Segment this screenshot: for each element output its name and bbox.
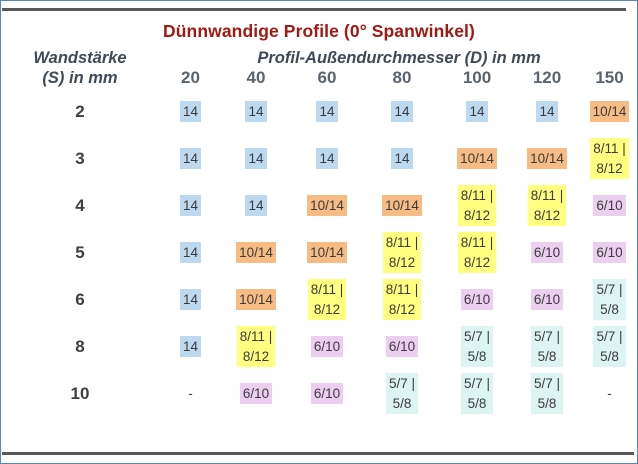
value-chip: 14 (536, 101, 557, 122)
cell-content-wrapper: 14 (222, 135, 290, 182)
value-chip-line2: 8/12 (593, 159, 626, 179)
column-header-40: 40 (222, 68, 290, 88)
cell-content-wrapper: 10/14 (364, 182, 440, 229)
table-cell: 10/14 (222, 276, 290, 323)
cell-content-wrapper: 14 (159, 229, 222, 276)
value-chip: 14 (245, 195, 266, 216)
cell-content-wrapper: 5/7 |5/8 (580, 323, 638, 370)
cell-content-wrapper: 8/11 |8/12 (222, 323, 290, 370)
table-cell: 10/14 (290, 182, 364, 229)
value-chip-line2: 5/8 (389, 394, 415, 414)
table-cell: 6/10 (514, 276, 580, 323)
table-cell: 10/14 (580, 88, 638, 135)
table-row: 61410/148/11 |8/128/11 |8/126/106/105/7 … (1, 276, 638, 323)
table-row: 10-6/106/105/7 |5/85/7 |5/85/7 |5/8- (1, 370, 638, 417)
value-chip-line1: 8/11 | (593, 141, 626, 156)
cell-content-wrapper: 14 (222, 182, 290, 229)
cell-content-wrapper: 5/7 |5/8 (580, 276, 638, 323)
cell-content-wrapper: 6/10 (364, 323, 440, 370)
value-chip: 6/10 (240, 383, 272, 404)
row-header-wall-thickness: 10 (1, 370, 159, 417)
table-cell: 5/7 |5/8 (580, 323, 638, 370)
cell-content-wrapper: 10/14 (290, 229, 364, 276)
value-chip: 6/10 (593, 242, 625, 263)
value-chip-line2: 8/12 (531, 206, 564, 226)
cell-content-wrapper: 6/10 (290, 323, 364, 370)
value-chip-line2: 5/8 (464, 394, 490, 414)
column-header-20: 20 (159, 68, 222, 88)
cell-content-wrapper: 5/7 |5/8 (364, 370, 440, 417)
value-chip-line2: 8/12 (386, 300, 419, 320)
table-header-row-columns: (S) in mm20406080100120150 (1, 68, 638, 88)
value-chip: 14 (180, 336, 201, 357)
cell-content-wrapper: 8/11 |8/12 (364, 276, 440, 323)
column-header-100: 100 (440, 68, 514, 88)
cell-content-wrapper: 14 (290, 135, 364, 182)
value-chip: 5/7 |5/8 (531, 373, 563, 414)
cell-content-wrapper: 14 (222, 88, 290, 135)
cell-content-wrapper: 6/10 (580, 229, 638, 276)
value-chip: 5/7 |5/8 (461, 326, 493, 367)
table-cell: 14 (159, 229, 222, 276)
value-chip: 14 (316, 101, 337, 122)
table-cell: 10/14 (364, 182, 440, 229)
cell-content-wrapper: 14 (364, 88, 440, 135)
value-chip-line1: 8/11 | (240, 329, 273, 344)
value-chip-line2: 5/8 (464, 347, 490, 367)
value-chip: 14 (245, 101, 266, 122)
value-chip: 14 (316, 148, 337, 169)
value-chip-line1: 8/11 | (461, 188, 494, 203)
table-cell: 8/11 |8/12 (440, 229, 514, 276)
value-chip: - (604, 383, 615, 404)
value-chip: 10/14 (236, 289, 276, 310)
row-axis-label-line1: Wandstärke (1, 49, 159, 68)
cell-content-wrapper: 14 (159, 88, 222, 135)
thin-wall-profiles-table-page: Dünnwandige Profile (0° Spanwinkel) Wand… (0, 0, 638, 464)
cell-content-wrapper: 5/7 |5/8 (440, 323, 514, 370)
table-cell: 14 (159, 135, 222, 182)
value-chip: 10/14 (236, 242, 276, 263)
table-cell: 14 (222, 182, 290, 229)
cell-content-wrapper: 10/14 (440, 135, 514, 182)
table-cell: 14 (222, 135, 290, 182)
value-chip-line1: 5/7 | (464, 329, 490, 344)
table-cell: 14 (159, 276, 222, 323)
value-chip: - (185, 383, 196, 404)
table-cell: 6/10 (580, 182, 638, 229)
table-cell: 10/14 (290, 229, 364, 276)
row-header-wall-thickness: 5 (1, 229, 159, 276)
value-chip: 8/11 |8/12 (590, 138, 629, 179)
table-cell: 6/10 (580, 229, 638, 276)
value-chip: 5/7 |5/8 (386, 373, 418, 414)
value-chip: 10/14 (457, 148, 497, 169)
cell-content-wrapper: 14 (514, 88, 580, 135)
profiles-table: WandstärkeProfil-Außendurchmesser (D) in… (1, 49, 638, 417)
table-cell: 8/11 |8/12 (290, 276, 364, 323)
table-cell: 8/11 |8/12 (440, 182, 514, 229)
value-chip: 8/11 |8/12 (528, 185, 567, 226)
column-header-80: 80 (364, 68, 440, 88)
value-chip-line1: 8/11 | (461, 235, 494, 250)
cell-content-wrapper: 14 (159, 276, 222, 323)
value-chip-line1: 5/7 | (534, 376, 560, 391)
value-chip: 5/7 |5/8 (593, 279, 625, 320)
value-chip: 6/10 (311, 383, 343, 404)
cell-content-wrapper: 10/14 (580, 88, 638, 135)
table-cell: 6/10 (364, 323, 440, 370)
cell-content-wrapper: 8/11 |8/12 (440, 229, 514, 276)
value-chip: 6/10 (531, 289, 563, 310)
cell-content-wrapper: 10/14 (222, 276, 290, 323)
value-chip: 8/11 |8/12 (308, 279, 347, 320)
column-header-60: 60 (290, 68, 364, 88)
table-cell: 14 (290, 135, 364, 182)
cell-content-wrapper: - (159, 370, 222, 417)
table-cell: 14 (159, 323, 222, 370)
top-divider-rule (2, 8, 626, 11)
value-chip: 8/11 |8/12 (383, 232, 422, 273)
value-chip: 14 (180, 242, 201, 263)
row-header-wall-thickness: 4 (1, 182, 159, 229)
cell-content-wrapper: 6/10 (580, 182, 638, 229)
cell-content-wrapper: - (580, 370, 638, 417)
cell-content-wrapper: 14 (364, 135, 440, 182)
value-chip-line1: 8/11 | (311, 282, 344, 297)
table-row: 31414141410/1410/148/11 |8/12 (1, 135, 638, 182)
cell-content-wrapper: 14 (290, 88, 364, 135)
table-cell: 8/11 |8/12 (364, 229, 440, 276)
table-cell: 6/10 (290, 370, 364, 417)
value-chip-line2: 8/12 (461, 253, 494, 273)
value-chip-line1: 5/7 | (389, 376, 415, 391)
row-header-wall-thickness: 8 (1, 323, 159, 370)
table-cell: 10/14 (514, 135, 580, 182)
value-chip-line2: 5/8 (596, 347, 622, 367)
bottom-divider-rule (2, 452, 634, 455)
value-chip: 10/14 (590, 101, 630, 122)
table-cell: 5/7 |5/8 (580, 276, 638, 323)
value-chip: 8/11 |8/12 (458, 232, 497, 273)
value-chip: 8/11 |8/12 (383, 279, 422, 320)
value-chip: 10/14 (307, 195, 347, 216)
value-chip: 8/11 |8/12 (458, 185, 497, 226)
value-chip: 6/10 (531, 242, 563, 263)
table-row: 214141414141410/14 (1, 88, 638, 135)
cell-content-wrapper: 14 (440, 88, 514, 135)
value-chip-line1: 5/7 | (596, 282, 622, 297)
cell-content-wrapper: 10/14 (514, 135, 580, 182)
value-chip: 14 (180, 195, 201, 216)
value-chip: 5/7 |5/8 (531, 326, 563, 367)
page-title: Dünnwandige Profile (0° Spanwinkel) (1, 21, 637, 42)
table-row: 4141410/1410/148/11 |8/128/11 |8/126/10 (1, 182, 638, 229)
value-chip-line2: 8/12 (386, 253, 419, 273)
table-row: 8148/11 |8/126/106/105/7 |5/85/7 |5/85/7… (1, 323, 638, 370)
value-chip-line2: 8/12 (311, 300, 344, 320)
value-chip-line2: 5/8 (534, 347, 560, 367)
table-cell: 8/11 |8/12 (580, 135, 638, 182)
cell-content-wrapper: 14 (159, 135, 222, 182)
row-header-wall-thickness: 2 (1, 88, 159, 135)
column-header-120: 120 (514, 68, 580, 88)
value-chip: 14 (245, 148, 266, 169)
value-chip: 10/14 (307, 242, 347, 263)
value-chip-line2: 5/8 (534, 394, 560, 414)
value-chip: 8/11 |8/12 (237, 326, 276, 367)
cell-content-wrapper: 5/7 |5/8 (514, 323, 580, 370)
value-chip: 14 (391, 148, 412, 169)
row-axis-label-line2: (S) in mm (1, 68, 159, 88)
table-cell: 14 (364, 135, 440, 182)
cell-content-wrapper: 6/10 (440, 276, 514, 323)
value-chip-line1: 8/11 | (386, 282, 419, 297)
table-cell: 5/7 |5/8 (514, 323, 580, 370)
cell-content-wrapper: 6/10 (222, 370, 290, 417)
table-cell: 14 (222, 88, 290, 135)
cell-content-wrapper: 8/11 |8/12 (440, 182, 514, 229)
value-chip: 14 (180, 289, 201, 310)
cell-content-wrapper: 8/11 |8/12 (514, 182, 580, 229)
table-cell: 14 (514, 88, 580, 135)
cell-content-wrapper: 8/11 |8/12 (580, 135, 638, 182)
table-cell: 14 (290, 88, 364, 135)
table-cell: 6/10 (290, 323, 364, 370)
value-chip-line1: 8/11 | (386, 235, 419, 250)
table-cell: 14 (440, 88, 514, 135)
value-chip: 14 (180, 101, 201, 122)
cell-content-wrapper: 10/14 (222, 229, 290, 276)
table-cell: 10/14 (222, 229, 290, 276)
table-cell: 8/11 |8/12 (364, 276, 440, 323)
table-cell: 14 (159, 88, 222, 135)
cell-content-wrapper: 8/11 |8/12 (364, 229, 440, 276)
cell-content-wrapper: 6/10 (514, 229, 580, 276)
table-cell: 10/14 (440, 135, 514, 182)
value-chip: 10/14 (527, 148, 567, 169)
table-cell: 14 (364, 88, 440, 135)
table-cell: 6/10 (222, 370, 290, 417)
table-cell: 5/7 |5/8 (514, 370, 580, 417)
cell-content-wrapper: 14 (159, 323, 222, 370)
value-chip-line1: 8/11 | (531, 188, 564, 203)
table-cell: 6/10 (440, 276, 514, 323)
value-chip-line1: 5/7 | (596, 329, 622, 344)
cell-content-wrapper: 10/14 (290, 182, 364, 229)
cell-content-wrapper: 8/11 |8/12 (290, 276, 364, 323)
row-header-wall-thickness: 6 (1, 276, 159, 323)
table-cell: 14 (159, 182, 222, 229)
cell-content-wrapper: 5/7 |5/8 (514, 370, 580, 417)
value-chip: 14 (466, 101, 487, 122)
table-cell: 8/11 |8/12 (514, 182, 580, 229)
value-chip: 6/10 (386, 336, 418, 357)
value-chip: 6/10 (311, 336, 343, 357)
value-chip-line2: 8/12 (240, 347, 273, 367)
value-chip-line1: 5/7 | (464, 376, 490, 391)
table-cell: 8/11 |8/12 (222, 323, 290, 370)
column-header-150: 150 (580, 68, 638, 88)
value-chip-line1: 5/7 | (534, 329, 560, 344)
cell-content-wrapper: 5/7 |5/8 (440, 370, 514, 417)
table-cell: 5/7 |5/8 (440, 370, 514, 417)
table-row: 51410/1410/148/11 |8/128/11 |8/126/106/1… (1, 229, 638, 276)
value-chip: 6/10 (593, 195, 625, 216)
table-cell: 5/7 |5/8 (364, 370, 440, 417)
value-chip: 6/10 (461, 289, 493, 310)
cell-content-wrapper: 14 (159, 182, 222, 229)
value-chip: 14 (180, 148, 201, 169)
cell-content-wrapper: 6/10 (290, 370, 364, 417)
value-chip: 5/7 |5/8 (461, 373, 493, 414)
table-cell: 5/7 |5/8 (440, 323, 514, 370)
value-chip: 10/14 (382, 195, 422, 216)
value-chip-line2: 8/12 (461, 206, 494, 226)
column-axis-label: Profil-Außendurchmesser (D) in mm (159, 49, 638, 68)
table-cell: - (580, 370, 638, 417)
row-header-wall-thickness: 3 (1, 135, 159, 182)
value-chip: 5/7 |5/8 (593, 326, 625, 367)
table-cell: - (159, 370, 222, 417)
table-cell: 6/10 (514, 229, 580, 276)
value-chip: 14 (391, 101, 412, 122)
value-chip-line2: 5/8 (596, 300, 622, 320)
cell-content-wrapper: 6/10 (514, 276, 580, 323)
table-header-row-axis-labels: WandstärkeProfil-Außendurchmesser (D) in… (1, 49, 638, 68)
